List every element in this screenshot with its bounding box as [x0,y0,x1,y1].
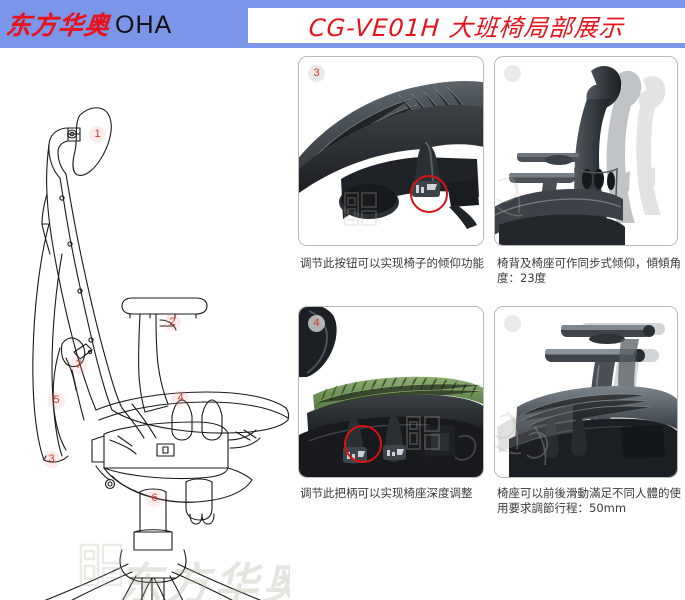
chair-diagram-pane: 1 2 3 4 5 6 7 东方华奥 [0,48,290,600]
page-header: 东方华奥 OHA CG-VE01H 大班椅局部展示 [0,0,685,48]
callout-4: 4 [172,390,189,407]
page-title: CG-VE01H 大班椅局部展示 [308,8,625,43]
caption-tilt-button: 调节此按钮可以实现椅子的倾仰功能 [300,256,490,271]
brand-name-cn: 东方华奥 [5,13,112,38]
callout-2: 2 [164,314,181,331]
tilt-knob-highlight [410,175,448,213]
panel-tilt-button-photo[interactable]: 3 [298,56,484,246]
callout-5: 5 [48,392,65,409]
brand-logo: 东方华奥 OHA [0,6,248,44]
caption-seat-slide: 椅座可以前後滑動滿足不同人體的使用要求調節行程：50mm [497,486,685,516]
callout-3: 3 [43,451,60,468]
seat-slide-ghosts-image [495,307,677,477]
panel-number-slide [504,315,521,332]
panel-synchro-tilt-photo[interactable] [494,56,678,246]
recline-ghosts-image [495,57,677,245]
depth-handle-highlight [344,425,382,463]
panel-seat-slide-photo[interactable] [494,306,678,478]
chair-line-drawing-svg [0,48,290,600]
title-banner: CG-VE01H 大班椅局部展示 [248,8,685,43]
panel-number-synchro [504,65,521,82]
green-mesh-seat-image [299,307,483,477]
brand-name-en: OHA [115,13,172,38]
panel-seat-depth-photo[interactable]: 4 [298,306,484,478]
panel-number-3: 3 [308,65,325,82]
feature-panel-grid: 3 调节此按钮可以实现椅子的倾仰功能 [290,48,685,600]
callout-1: 1 [89,126,106,143]
product-feature-sheet: 东方华奥 OHA CG-VE01H 大班椅局部展示 [0,0,685,600]
panel-number-4: 4 [308,315,325,332]
callout-7: 7 [70,357,87,374]
caption-synchro-tilt: 椅背及椅座可作同步式倾仰，傾傾角度：23度 [497,256,685,286]
caption-seat-depth: 调节此把柄可以实现椅座深度调整 [300,486,490,501]
callout-6: 6 [146,490,163,507]
seat-underside-image [299,57,483,245]
